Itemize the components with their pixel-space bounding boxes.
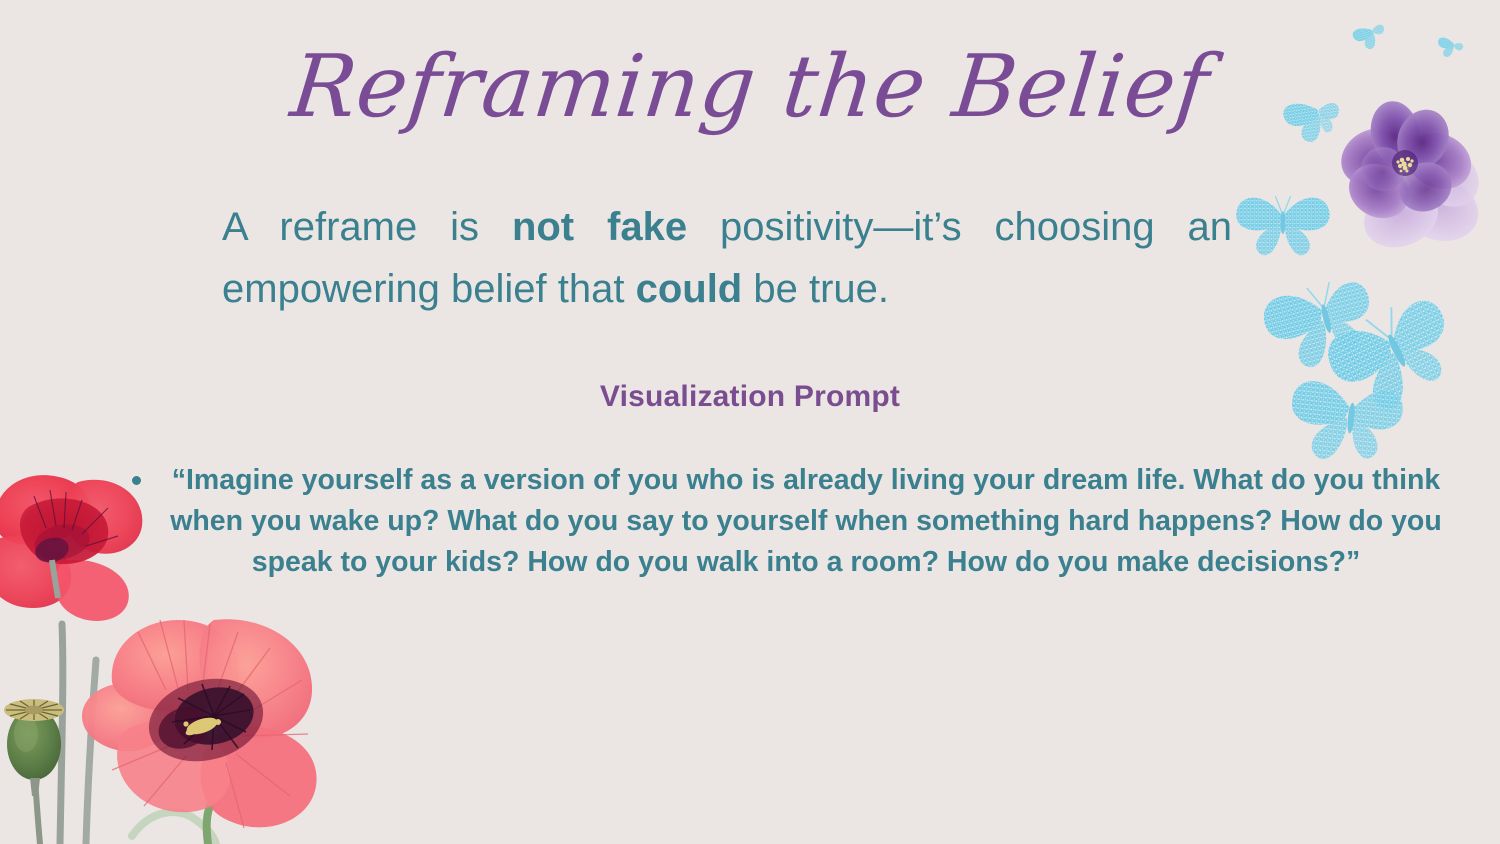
list-item: “Imagine yourself as a version of you wh… — [120, 460, 1450, 583]
lead-paragraph: A reframe is not fake positivity—it’s ch… — [222, 196, 1232, 321]
slide-title: Reframing the Belief — [0, 42, 1500, 132]
green-poppy-seed-pod — [4, 699, 64, 796]
coral-poppy-lower — [82, 619, 317, 828]
butterfly-large-left — [1259, 274, 1382, 376]
flower-center — [1396, 157, 1413, 173]
visualization-prompt-list: “Imagine yourself as a version of you wh… — [120, 460, 1450, 583]
lead-bold-could: could — [636, 267, 743, 311]
lead-text-part3: be true. — [742, 267, 889, 311]
lead-text-part1: A reframe is — [222, 205, 512, 249]
list-item-text: “Imagine yourself as a version of you wh… — [170, 464, 1442, 578]
poppy-stems — [34, 624, 216, 844]
lead-bold-not-fake: not fake — [512, 205, 687, 249]
butterfly-front-facing — [1236, 196, 1329, 255]
section-heading-visualization-prompt: Visualization Prompt — [0, 380, 1500, 414]
slide-canvas: Reframing the Belief A reframe is not fa… — [0, 0, 1500, 844]
bullet-dot-icon — [132, 476, 141, 485]
